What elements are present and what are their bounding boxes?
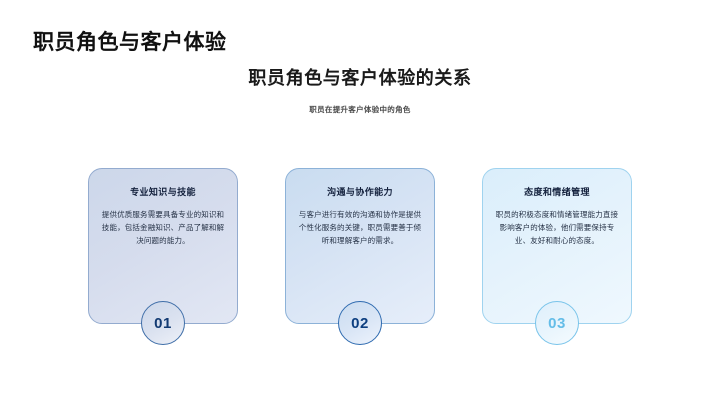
card-body-text: 与客户进行有效的沟通和协作是提供个性化服务的关键，职员需要善于倾听和理解客户的需… bbox=[297, 209, 423, 248]
card-item-02[interactable]: 沟通与协作能力 与客户进行有效的沟通和协作是提供个性化服务的关键，职员需要善于倾… bbox=[285, 168, 435, 324]
card-number-badge: 01 bbox=[141, 301, 185, 345]
card-number-badge: 03 bbox=[535, 301, 579, 345]
main-title: 职员角色与客户体验的关系 bbox=[0, 68, 720, 90]
card-body-text: 提供优质服务需要具备专业的知识和技能，包括金融知识、产品了解和解决问题的能力。 bbox=[100, 209, 226, 248]
card-row: 专业知识与技能 提供优质服务需要具备专业的知识和技能，包括金融知识、产品了解和解… bbox=[88, 168, 632, 324]
slide-header-title: 职员角色与客户体验 bbox=[33, 26, 227, 56]
card-title: 专业知识与技能 bbox=[100, 187, 226, 198]
card-item-03[interactable]: 态度和情绪管理 职员的积极态度和情绪管理能力直接影响客户的体验，他们需要保持专业… bbox=[482, 168, 632, 324]
slide: 职员角色与客户体验 职员角色与客户体验的关系 职员在提升客户体验中的角色 专业知… bbox=[0, 0, 720, 405]
card-title: 沟通与协作能力 bbox=[297, 187, 423, 198]
card-number-badge: 02 bbox=[338, 301, 382, 345]
card-body-text: 职员的积极态度和情绪管理能力直接影响客户的体验，他们需要保持专业、友好和耐心的态… bbox=[494, 209, 620, 248]
main-subtitle: 职员在提升客户体验中的角色 bbox=[0, 104, 720, 115]
center-title-block: 职员角色与客户体验的关系 职员在提升客户体验中的角色 bbox=[0, 68, 720, 115]
card-title: 态度和情绪管理 bbox=[494, 187, 620, 198]
card-item-01[interactable]: 专业知识与技能 提供优质服务需要具备专业的知识和技能，包括金融知识、产品了解和解… bbox=[88, 168, 238, 324]
